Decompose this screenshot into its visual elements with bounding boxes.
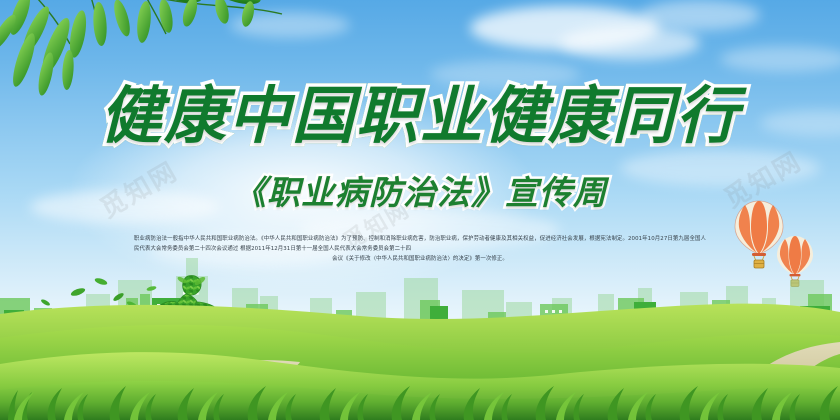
page-subtitle: 《职业病防治法》宣传周 (0, 178, 840, 211)
poster-canvas: 觅知网 觅知网 觅知网 觅知网 (0, 0, 840, 420)
page-subtitle-text: 《职业病防治法》宣传周 (233, 176, 607, 212)
page-title: 健康中国职业健康同行 (0, 86, 840, 148)
page-title-text: 健康中国职业健康同行 (100, 83, 740, 151)
body-paragraph-last-line: 会议《关于修改〈中华人民共和国职业病防治法〉的决定》第一次修正。 (134, 254, 706, 264)
flying-leaf-icon (94, 276, 108, 287)
body-paragraph: 职业病防治法一般指中华人民共和国职业病防治法。《中华人民共和国职业病防治法》为了… (134, 234, 706, 264)
cloud-icon (640, 0, 760, 30)
cloud-icon (720, 46, 840, 72)
body-paragraph-text: 职业病防治法一般指中华人民共和国职业病防治法。《中华人民共和国职业病防治法》为了… (134, 236, 706, 252)
grass-hills-icon (0, 290, 840, 420)
cloud-icon (560, 26, 700, 60)
